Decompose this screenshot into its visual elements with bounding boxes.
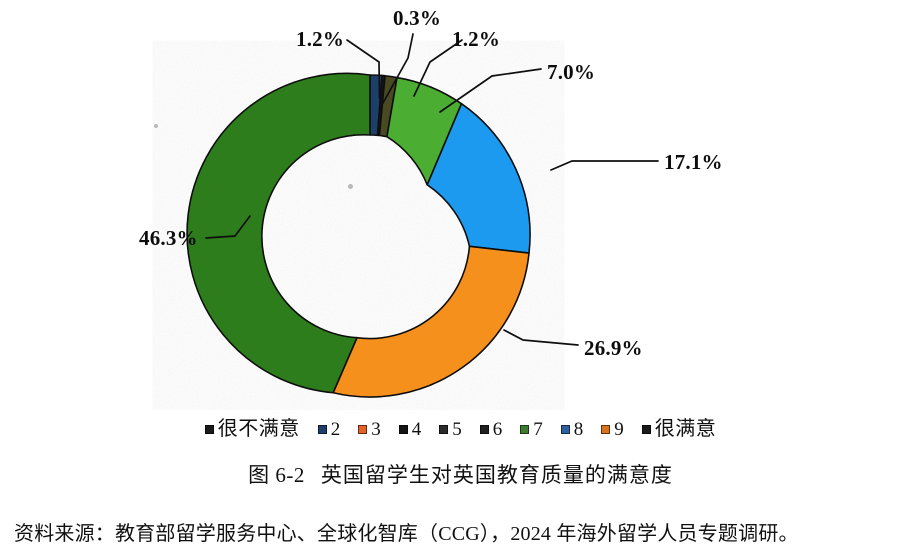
legend-swatch-icon (561, 425, 570, 434)
legend-item-4[interactable]: 4 (399, 420, 422, 439)
legend-label: 7 (533, 420, 543, 439)
legend-label: 8 (574, 420, 584, 439)
figure-source: 资料来源：教育部留学服务中心、全球化智库（CCG），2024 年海外留学人员专题… (14, 517, 914, 546)
legend-item-很不满意[interactable]: 很不满意 (205, 419, 300, 439)
legend-item-3[interactable]: 3 (358, 420, 381, 439)
figure-page: 1.2% 0.3% 1.2% 7.0% 17.1% 26.9% 46.3% 很不… (0, 0, 921, 558)
slice-label-7: 7.0% (547, 60, 595, 85)
slice-label-very-satisfied: 46.3% (139, 226, 198, 251)
legend-swatch-icon (205, 425, 214, 434)
leader-line-8 (551, 161, 658, 170)
figure-caption: 图 6-2英国留学生对英国教育质量的满意度 (0, 459, 921, 489)
figure-title: 英国留学生对英国教育质量的满意度 (321, 463, 673, 487)
legend-item-6[interactable]: 6 (480, 420, 503, 439)
legend-label: 6 (493, 420, 503, 439)
legend-label: 3 (371, 420, 381, 439)
donut-chart: 1.2% 0.3% 1.2% 7.0% 17.1% 26.9% 46.3% (0, 0, 921, 410)
legend-swatch-icon (399, 425, 408, 434)
slice-label-9: 26.9% (584, 336, 643, 361)
legend-item-7[interactable]: 7 (520, 420, 543, 439)
legend-swatch-icon (601, 425, 610, 434)
legend-item-很满意[interactable]: 很满意 (642, 419, 717, 439)
donut-slice-very-satisfied (187, 73, 370, 392)
legend-swatch-icon (439, 425, 448, 434)
figure-number: 图 6-2 (248, 463, 305, 487)
legend-item-2[interactable]: 2 (318, 420, 341, 439)
legend-label: 5 (452, 420, 462, 439)
slice-label-3: 0.3% (393, 6, 441, 31)
legend-swatch-icon (520, 425, 529, 434)
legend-item-5[interactable]: 5 (439, 420, 462, 439)
legend-swatch-icon (358, 425, 367, 434)
legend-label: 9 (614, 420, 624, 439)
legend-item-8[interactable]: 8 (561, 420, 584, 439)
legend-label: 很满意 (655, 419, 717, 439)
donut-chart-svg (0, 0, 921, 410)
slice-label-4: 1.2% (452, 27, 500, 52)
chart-legend: 很不满意23456789很满意 (0, 414, 921, 444)
slice-label-2: 1.2% (296, 27, 344, 52)
legend-label: 很不满意 (218, 419, 300, 439)
legend-swatch-icon (480, 425, 489, 434)
legend-swatch-icon (318, 425, 327, 434)
legend-label: 2 (331, 420, 341, 439)
slice-label-8: 17.1% (664, 150, 723, 175)
legend-swatch-icon (642, 425, 651, 434)
leader-line-9 (504, 330, 578, 345)
legend-label: 4 (412, 420, 422, 439)
legend-item-9[interactable]: 9 (601, 420, 624, 439)
donut-slice-9 (333, 246, 529, 397)
